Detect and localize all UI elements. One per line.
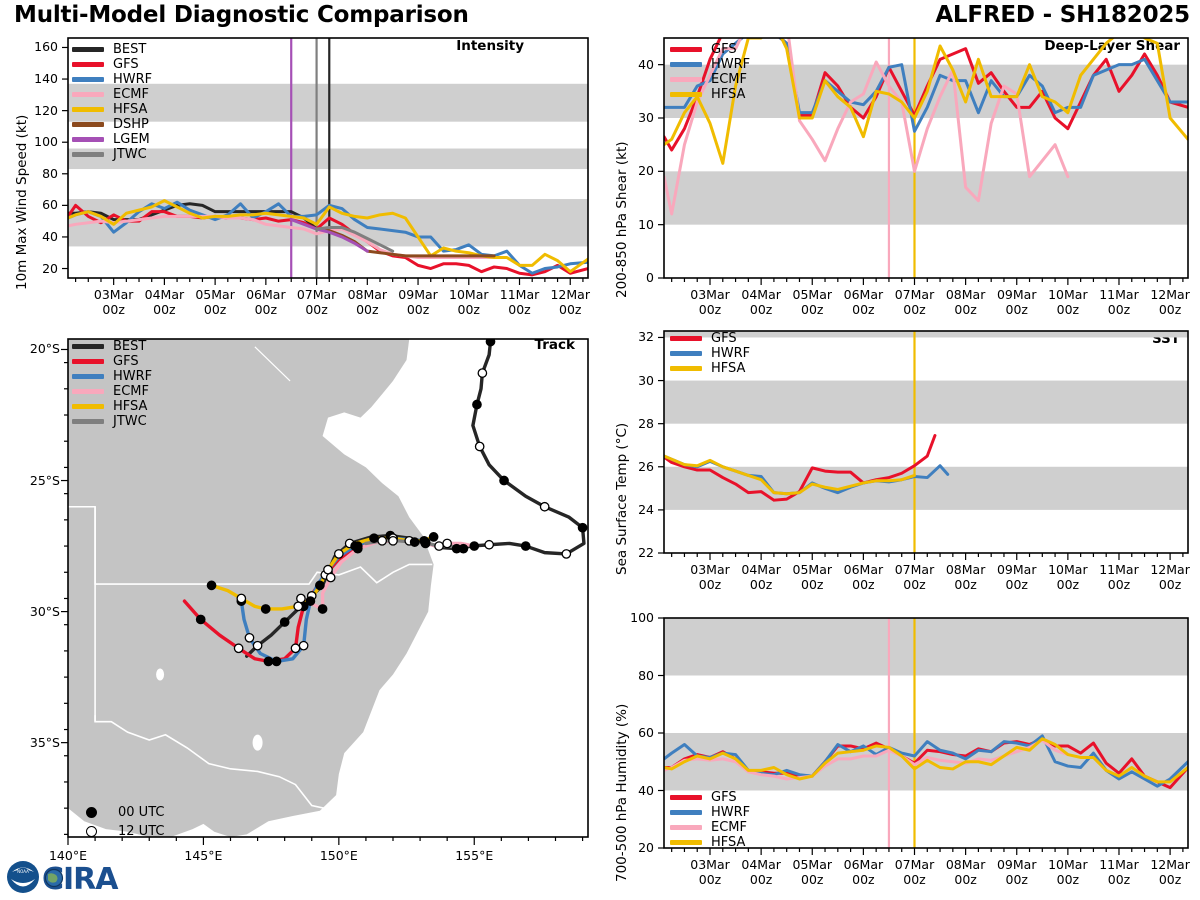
track-marker-00utc — [272, 657, 280, 665]
track-marker-00utc — [410, 538, 418, 546]
track-marker-12utc — [291, 644, 299, 652]
track-marker-12utc — [335, 550, 343, 558]
ytick-label: 32 — [608, 329, 654, 344]
legend-label-ecmf: ECMF — [113, 88, 149, 101]
legend-item-hfsa: HFSA — [72, 102, 152, 117]
track-marker-00utc — [500, 476, 508, 484]
track-marker-12utc — [435, 542, 443, 550]
track-marker-00utc — [522, 542, 530, 550]
legend-label-ecmf: ECMF — [711, 73, 747, 86]
track-marker-00utc — [306, 597, 314, 605]
legend-label-gfs: GFS — [113, 355, 139, 368]
legend-swatch-hfsa — [72, 107, 104, 112]
legend-item-hwrf: HWRF — [72, 72, 152, 87]
track-marker-00utc — [473, 400, 481, 408]
legend-swatch-best — [72, 47, 104, 52]
shear-legend: GFSHWRFECMFHFSA — [670, 42, 750, 102]
marker-legend-label: 12 UTC — [118, 825, 164, 838]
ytick-label: 28 — [608, 416, 654, 431]
legend-item-gfs: GFS — [670, 790, 750, 805]
legend-item-ecmf: ECMF — [670, 820, 750, 835]
legend-swatch-gfs — [72, 62, 104, 67]
ytick-label: 60 — [608, 725, 654, 740]
legend-item-best: BEST — [72, 339, 152, 354]
marker-legend-label: 00 UTC — [118, 806, 164, 819]
map-xtick-label: 145°E — [165, 848, 241, 863]
map-xtick-label: 155°E — [436, 848, 512, 863]
rh-plot — [600, 600, 1200, 900]
map-lake — [156, 668, 164, 680]
legend-label-ecmf: ECMF — [113, 385, 149, 398]
panel-sst: Sea Surface Temp (°C) SST GFSHWRFHFSA 22… — [600, 325, 1200, 600]
noaa-cira-logo: NOAA CIRA — [6, 858, 124, 898]
legend-label-gfs: GFS — [711, 43, 737, 56]
legend-item-hwrf: HWRF — [670, 57, 750, 72]
intensity-legend: BESTGFSHWRFECMFHFSADSHPLGEMJTWC — [72, 42, 152, 162]
map-ytick-label: 30°S — [6, 604, 60, 619]
legend-swatch-gfs — [670, 336, 702, 341]
ytick-label: 20 — [608, 840, 654, 855]
ytick-label: 40 — [608, 57, 654, 72]
legend-label-jtwc: JTWC — [113, 415, 147, 428]
ytick-label: 26 — [608, 459, 654, 474]
track-marker-12utc — [294, 602, 302, 610]
cira-logo: CIRA — [42, 862, 119, 897]
legend-item-jtwc: JTWC — [72, 147, 152, 162]
legend-item-gfs: GFS — [72, 354, 152, 369]
legend-swatch-gfs — [670, 795, 702, 800]
legend-label-lgem: LGEM — [113, 133, 150, 146]
legend-swatch-jtwc — [72, 419, 104, 424]
ytick-label: 120 — [12, 103, 58, 118]
map-xtick-label: 150°E — [301, 848, 377, 863]
ytick-label: 30 — [608, 373, 654, 388]
track-marker-00utc — [429, 533, 437, 541]
legend-label-hwrf: HWRF — [711, 58, 750, 71]
ytick-label: 22 — [608, 545, 654, 560]
legend-label-jtwc: JTWC — [113, 148, 147, 161]
legend-swatch-hwrf — [670, 810, 702, 815]
track-marker-12utc — [234, 644, 242, 652]
ytick-label: 100 — [608, 610, 654, 625]
legend-label-best: BEST — [113, 340, 146, 353]
legend-swatch-hwrf — [72, 77, 104, 82]
legend-label-gfs: GFS — [711, 332, 737, 345]
legend-swatch-dshp — [72, 122, 104, 127]
track-marker-12utc — [245, 634, 253, 642]
track-marker-12utc — [324, 565, 332, 573]
legend-swatch-ecmf — [670, 825, 702, 830]
legend-item-ecmf: ECMF — [72, 384, 152, 399]
legend-item-hfsa: HFSA — [670, 87, 750, 102]
shaded-band — [664, 381, 1188, 424]
ytick-label: 80 — [12, 166, 58, 181]
ytick-label: 0 — [608, 270, 654, 285]
xtick-label: 12Mar 00z — [1136, 857, 1200, 888]
shaded-band — [664, 618, 1188, 676]
xtick-label: 12Mar 00z — [1136, 287, 1200, 318]
legend-swatch-ecmf — [72, 92, 104, 97]
legend-label-hwrf: HWRF — [711, 806, 750, 819]
legend-swatch-hfsa — [670, 92, 702, 97]
track-marker-00utc — [262, 605, 270, 613]
ytick-label: 100 — [12, 134, 58, 149]
page-title-right: ALFRED - SH182025 — [935, 2, 1190, 28]
track-marker-00utc — [470, 542, 478, 550]
ytick-label: 60 — [12, 197, 58, 212]
track-marker-00utc — [459, 544, 467, 552]
track-marker-12utc — [562, 550, 570, 558]
track-marker-12utc — [378, 537, 386, 545]
legend-item-lgem: LGEM — [72, 132, 152, 147]
legend-label-hwrf: HWRF — [113, 73, 152, 86]
track-marker-00utc — [280, 618, 288, 626]
legend-swatch-hfsa — [72, 404, 104, 409]
legend-label-hwrf: HWRF — [113, 370, 152, 383]
marker-legend-symbol-filled-circle — [78, 807, 104, 818]
map-lake — [253, 735, 263, 751]
track-marker-12utc — [253, 641, 261, 649]
track-marker-00utc — [207, 581, 215, 589]
legend-item-gfs: GFS — [72, 57, 152, 72]
legend-swatch-hfsa — [670, 366, 702, 371]
legend-item-gfs: GFS — [670, 331, 750, 346]
noaa-logo: NOAA — [7, 861, 39, 893]
legend-label-hwrf: HWRF — [711, 347, 750, 360]
ytick-label: 20 — [12, 261, 58, 276]
track-marker-00utc — [264, 657, 272, 665]
map-ytick-label: 35°S — [6, 735, 60, 750]
xtick-label: 12Mar 00z — [1136, 562, 1200, 593]
track-marker-00utc — [318, 605, 326, 613]
legend-item-ecmf: ECMF — [72, 87, 152, 102]
ytick-label: 80 — [608, 668, 654, 683]
legend-item-gfs: GFS — [670, 42, 750, 57]
legend-item-hwrf: HWRF — [72, 369, 152, 384]
legend-swatch-jtwc — [72, 152, 104, 157]
legend-item-hfsa: HFSA — [670, 361, 750, 376]
track-marker-12utc — [237, 594, 245, 602]
track-marker-00utc — [197, 615, 205, 623]
legend-item-hwrf: HWRF — [670, 805, 750, 820]
legend-item-jtwc: JTWC — [72, 414, 152, 429]
ytick-label: 20 — [608, 163, 654, 178]
legend-label-hfsa: HFSA — [711, 836, 745, 849]
legend-item-hfsa: HFSA — [72, 399, 152, 414]
legend-label-hfsa: HFSA — [113, 400, 147, 413]
ytick-label: 10 — [608, 217, 654, 232]
panel-deep-layer-shear: 200-850 hPa Shear (kt) Deep-Layer Shear … — [600, 30, 1200, 320]
map-ytick-label: 25°S — [6, 473, 60, 488]
legend-item-hfsa: HFSA — [670, 835, 750, 850]
track-marker-12utc — [389, 537, 397, 545]
track-marker-00utc — [354, 544, 362, 552]
shaded-band — [664, 171, 1188, 224]
ytick-label: 40 — [608, 783, 654, 798]
track-marker-12utc — [327, 573, 335, 581]
legend-swatch-gfs — [72, 359, 104, 364]
legend-swatch-ecmf — [72, 389, 104, 394]
branding-logos: NOAA CIRA — [6, 858, 124, 898]
legend-swatch-hwrf — [72, 374, 104, 379]
page-title-left: Multi-Model Diagnostic Comparison — [14, 2, 469, 28]
legend-label-best: BEST — [113, 43, 146, 56]
legend-swatch-hfsa — [670, 840, 702, 845]
legend-swatch-hwrf — [670, 351, 702, 356]
legend-label-ecmf: ECMF — [711, 821, 747, 834]
track-legend: BESTGFSHWRFECMFHFSAJTWC — [72, 339, 152, 429]
legend-label-hfsa: HFSA — [113, 103, 147, 116]
legend-swatch-hwrf — [670, 62, 702, 67]
track-marker-12utc — [478, 369, 486, 377]
legend-swatch-gfs — [670, 47, 702, 52]
track-marker-00utc — [316, 581, 324, 589]
marker-legend-item: 00 UTC — [78, 803, 164, 822]
track-marker-12utc — [297, 594, 305, 602]
marker-legend-item: 12 UTC — [78, 822, 164, 841]
ytick-label: 24 — [608, 502, 654, 517]
panel-intensity: 10m Max Wind Speed (kt) Intensity BESTGF… — [0, 30, 600, 320]
track-marker-00utc — [578, 524, 586, 532]
track-marker-12utc — [299, 641, 307, 649]
track-marker-12utc — [485, 541, 493, 549]
marker-legend-symbol-open-circle — [78, 826, 104, 837]
legend-item-best: BEST — [72, 42, 152, 57]
ytick-label: 40 — [12, 229, 58, 244]
legend-label-gfs: GFS — [711, 791, 737, 804]
legend-label-hfsa: HFSA — [711, 362, 745, 375]
ytick-label: 30 — [608, 110, 654, 125]
legend-swatch-best — [72, 344, 104, 349]
track-marker-12utc — [475, 442, 483, 450]
legend-swatch-lgem — [72, 137, 104, 142]
track-marker-00utc — [421, 539, 429, 547]
panel-mid-level-rh: 700-500 hPa Humidity (%) Mid-Level RH GF… — [600, 600, 1200, 900]
sst-legend: GFSHWRFHFSA — [670, 331, 750, 376]
legend-label-hfsa: HFSA — [711, 88, 745, 101]
legend-item-ecmf: ECMF — [670, 72, 750, 87]
legend-label-gfs: GFS — [113, 58, 139, 71]
legend-item-dshp: DSHP — [72, 117, 152, 132]
legend-swatch-ecmf — [670, 77, 702, 82]
xtick-label: 12Mar 00z — [536, 287, 604, 318]
ytick-label: 140 — [12, 71, 58, 86]
panel-track: Track BESTGFSHWRFECMFHFSAJTWC 00 UTC12 U… — [0, 325, 600, 885]
legend-label-dshp: DSHP — [113, 118, 149, 131]
ytick-label: 160 — [12, 39, 58, 54]
rh-legend: GFSHWRFECMFHFSA — [670, 790, 750, 850]
track-marker-12utc — [540, 503, 548, 511]
track-marker-legend: 00 UTC12 UTC — [78, 803, 164, 841]
svg-text:NOAA: NOAA — [17, 869, 29, 874]
track-marker-00utc — [370, 534, 378, 542]
track-marker-12utc — [443, 539, 451, 547]
legend-item-hwrf: HWRF — [670, 346, 750, 361]
